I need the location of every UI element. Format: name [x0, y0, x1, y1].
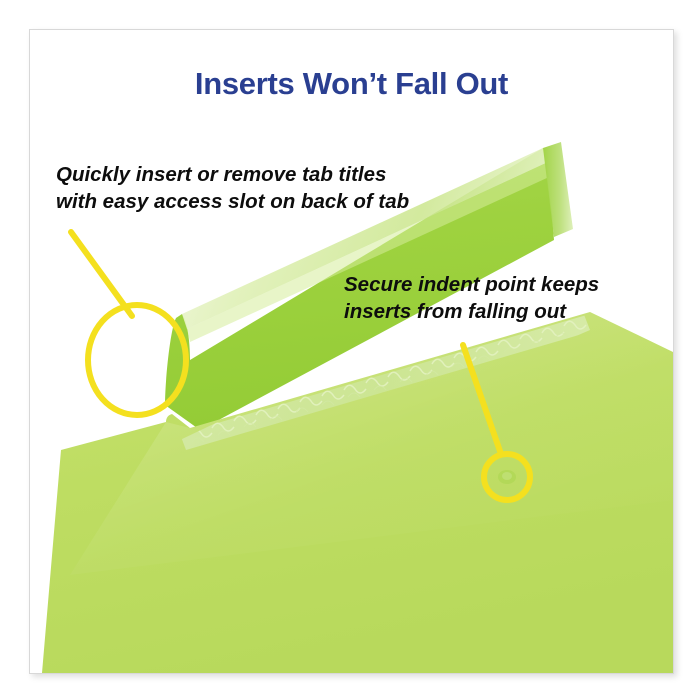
indent-point: [498, 470, 516, 484]
divider-illustration: [30, 30, 673, 673]
product-photo-image: [30, 30, 673, 673]
callout-right-text: Secure indent point keeps inserts from f…: [344, 271, 599, 325]
callout-right-line1: Secure indent point keeps: [344, 271, 599, 298]
callout-left-text: Quickly insert or remove tab titles with…: [56, 161, 409, 215]
callout-right-line2: inserts from falling out: [344, 298, 599, 325]
callout-left-line2: with easy access slot on back of tab: [56, 188, 409, 215]
product-photo-frame: Inserts Won’t Fall Out Quickly insert or…: [29, 29, 674, 674]
divider-body-shape: [42, 312, 673, 673]
page-title: Inserts Won’t Fall Out: [30, 66, 673, 102]
callout-left-line1: Quickly insert or remove tab titles: [56, 161, 409, 188]
screenshot-canvas: Inserts Won’t Fall Out Quickly insert or…: [0, 0, 700, 700]
